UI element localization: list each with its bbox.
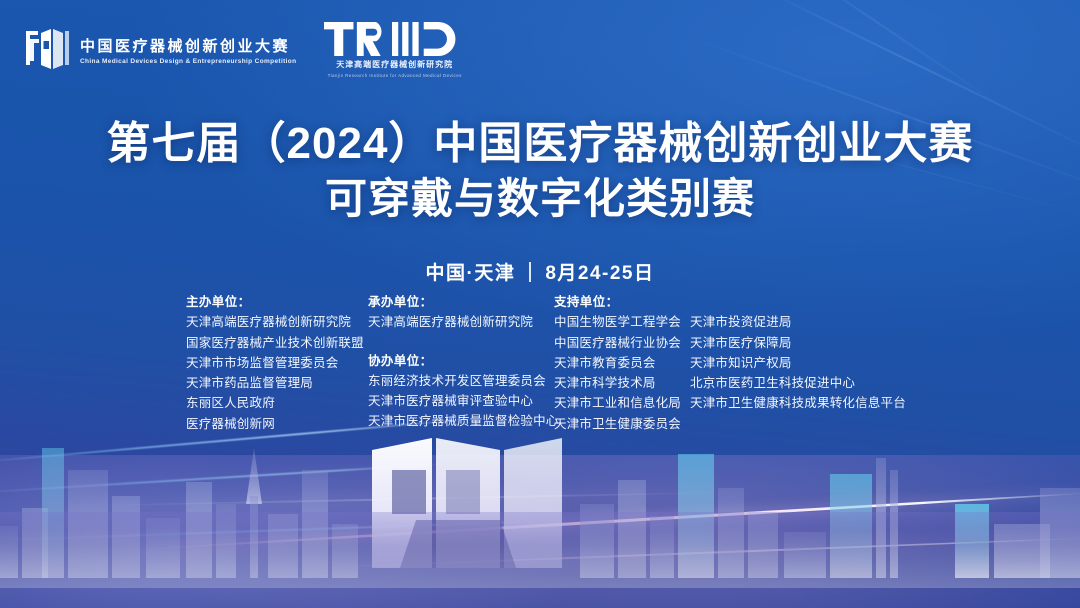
organizer-item: 天津高端医疗器械创新研究院 xyxy=(186,312,368,332)
main-title-line2: 可穿戴与数字化类别赛 xyxy=(0,172,1080,227)
supporter-item: 中国生物医学工程学会 xyxy=(554,312,690,332)
supporter-item: 天津市工业和信息化局 xyxy=(554,393,690,413)
units-block: 主办单位： 天津高端医疗器械创新研究院 国家医疗器械产业技术创新联盟 天津市市场… xyxy=(186,292,906,434)
supporter-item: 天津市卫生健康委员会 xyxy=(554,414,690,434)
event-date: 8月24-25日 xyxy=(545,258,654,285)
supporters-heading: 支持单位： xyxy=(554,292,690,312)
ground-glow xyxy=(0,512,1080,608)
coorganizers-heading: 协办单位： xyxy=(368,351,554,371)
coorganizer-item: 天津市医疗器械质量监督检验中心 xyxy=(368,411,554,431)
trimd-logo-en: Tianjin Research Institute for Advanced … xyxy=(328,73,462,78)
organizer-item: 医疗器械创新网 xyxy=(186,414,368,434)
event-location: 中国·天津 xyxy=(426,258,516,285)
supporter-item: 天津市卫生健康科技成果转化信息平台 xyxy=(690,393,906,413)
title-block: 第七届（2024）中国医疗器械创新创业大赛 可穿戴与数字化类别赛 xyxy=(0,116,1080,227)
coorganizer-item: 天津市医疗器械审评查验中心 xyxy=(368,391,554,411)
competition-logo: 中国医疗器械创新创业大赛 China Medical Devices Desig… xyxy=(24,29,296,71)
city-skyline-graphic xyxy=(0,408,1080,608)
trimd-logo: 天津高端医疗器械创新研究院 Tianjin Research Institute… xyxy=(324,22,465,78)
pink-light-streak xyxy=(121,491,1080,552)
trimd-logo-cn: 天津高端医疗器械创新研究院 xyxy=(336,59,453,70)
pink-light-streak xyxy=(60,491,760,508)
supporters-column-a: 支持单位： 中国生物医学工程学会 中国医疗器械行业协会 天津市教育委员会 天津市… xyxy=(554,292,690,434)
undertaker-item: 天津高端医疗器械创新研究院 xyxy=(368,312,554,332)
pink-light-streak xyxy=(300,537,1080,570)
undertaker-heading: 承办单位： xyxy=(368,292,554,312)
organizer-item: 东丽区人民政府 xyxy=(186,393,368,413)
organizer-item: 国家医疗器械产业技术创新联盟 xyxy=(186,333,368,353)
competition-logo-cn: 中国医疗器械创新创业大赛 xyxy=(80,35,296,56)
organizers-column: 主办单位： 天津高端医疗器械创新研究院 国家医疗器械产业技术创新联盟 天津市市场… xyxy=(186,292,368,434)
coorganizer-item: 东丽经济技术开发区管理委员会 xyxy=(368,371,554,391)
supporters-column-b: 天津市投资促进局 天津市医疗保障局 天津市知识产权局 北京市医药卫生科技促进中心… xyxy=(690,292,906,414)
meta-divider xyxy=(529,262,531,282)
glowing-gate-landmark xyxy=(372,438,562,568)
main-title-line1: 第七届（2024）中国医疗器械创新创业大赛 xyxy=(0,116,1080,172)
horizon-glow xyxy=(0,455,1080,608)
supporter-item: 天津市科学技术局 xyxy=(554,373,690,393)
header-logos: 中国医疗器械创新创业大赛 China Medical Devices Desig… xyxy=(24,22,465,78)
trimd-wordmark-icon xyxy=(324,22,465,56)
supporter-item: 天津市教育委员会 xyxy=(554,353,690,373)
light-streak xyxy=(0,462,460,496)
event-meta: 中国·天津 8月24-25日 xyxy=(0,258,1080,285)
light-streak xyxy=(0,520,560,543)
undertaker-coorganizer-column: 承办单位： 天津高端医疗器械创新研究院 协办单位： 东丽经济技术开发区管理委员会… xyxy=(368,292,554,432)
organizer-item: 天津市药品监督管理局 xyxy=(186,373,368,393)
supporter-item: 北京市医药卫生科技促进中心 xyxy=(690,373,906,393)
organizer-item: 天津市市场监督管理委员会 xyxy=(186,353,368,373)
poster-canvas: 中国医疗器械创新创业大赛 China Medical Devices Desig… xyxy=(0,0,1080,608)
competition-logo-en: China Medical Devices Design & Entrepren… xyxy=(80,58,296,65)
supporter-item: 天津市投资促进局 xyxy=(690,312,906,332)
supporter-item: 天津市知识产权局 xyxy=(690,353,906,373)
organizers-heading: 主办单位： xyxy=(186,292,368,312)
supporter-item: 中国医疗器械行业协会 xyxy=(554,333,690,353)
open-door-gate-icon xyxy=(24,29,70,71)
light-ray-decoration xyxy=(765,0,1015,116)
supporter-item: 天津市医疗保障局 xyxy=(690,333,906,353)
